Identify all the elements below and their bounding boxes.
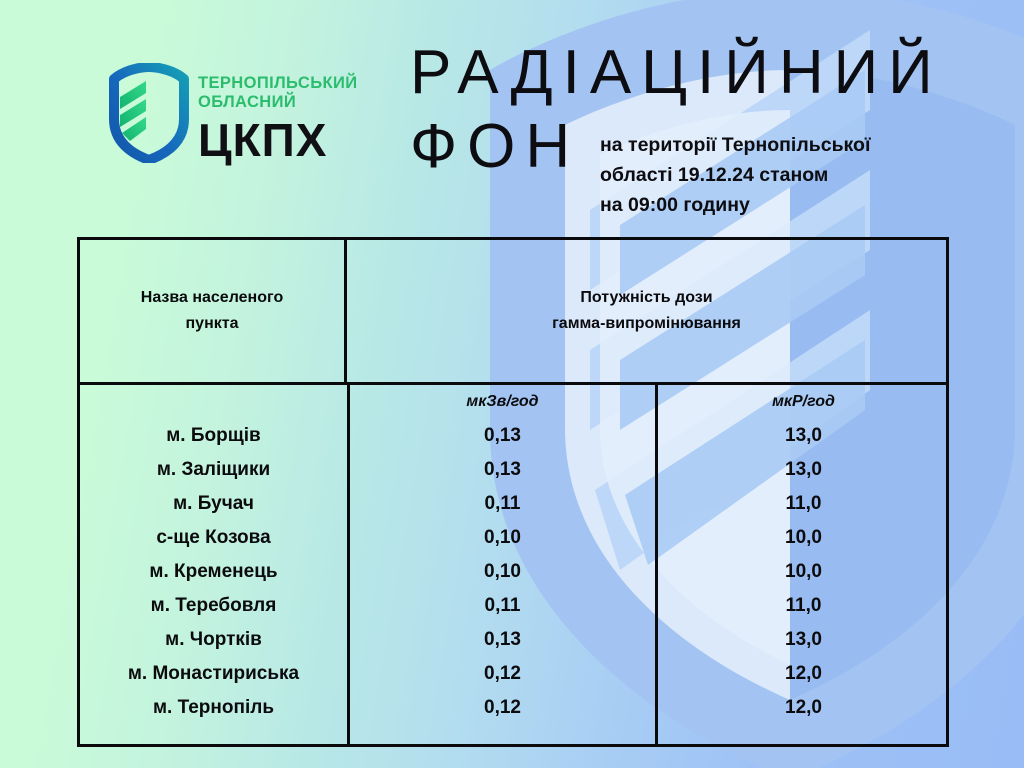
organization-logo: ТЕРНОПІЛЬСЬКИЙ ОБЛАСНИЙ ЦКПХ — [106, 58, 436, 173]
radiation-background-poster: ТЕРНОПІЛЬСЬКИЙ ОБЛАСНИЙ ЦКПХ РАДІАЦІЙНИЙ… — [0, 0, 1024, 768]
table-units-row: мкЗв/год мкР/год — [80, 385, 946, 423]
cell-dose-usv: 0,12 — [350, 663, 655, 685]
table-row: м. Борщів0,1313,0 — [80, 423, 946, 457]
column-header-dose-rate: Потужність дози гамма-випромінювання — [347, 240, 946, 382]
cell-settlement-name: м. Кременець — [80, 561, 347, 583]
page-subtitle: на території Тернопільської області 19.1… — [600, 130, 940, 220]
cell-dose-ur: 13,0 — [658, 629, 949, 651]
logo-line-2: ОБЛАСНИЙ — [198, 93, 438, 112]
cell-dose-ur: 11,0 — [658, 595, 949, 617]
table-row: м. Монастириська0,1212,0 — [80, 661, 946, 695]
cell-settlement-name: м. Тернопіль — [80, 697, 347, 719]
column-header-dose-line-2: гамма-випромінювання — [552, 311, 741, 337]
cell-dose-usv: 0,11 — [350, 493, 655, 515]
cell-settlement-name: м. Борщів — [80, 425, 347, 447]
cell-dose-ur: 11,0 — [658, 493, 949, 515]
subtitle-line-2: області 19.12.24 станом — [600, 160, 940, 190]
cell-dose-ur: 12,0 — [658, 697, 949, 719]
table-body: мкЗв/год мкР/год м. Борщів0,1313,0м. Зал… — [80, 385, 946, 744]
cell-settlement-name: м. Заліщики — [80, 459, 347, 481]
cell-settlement-name: с-ще Козова — [80, 527, 347, 549]
table-row: с-ще Козова0,1010,0 — [80, 525, 946, 559]
cell-dose-usv: 0,13 — [350, 629, 655, 651]
table-row: м. Теребовля0,1111,0 — [80, 593, 946, 627]
logo-line-1: ТЕРНОПІЛЬСЬКИЙ — [198, 74, 438, 93]
title-line-1: РАДІАЦІЙНИЙ — [410, 36, 1010, 110]
cell-settlement-name: м. Монастириська — [80, 663, 347, 685]
cell-dose-usv: 0,10 — [350, 561, 655, 583]
unit-microsievert-per-hour: мкЗв/год — [350, 393, 655, 411]
cell-dose-ur: 13,0 — [658, 425, 949, 447]
table-row: м. Чортків0,1313,0 — [80, 627, 946, 661]
cell-dose-ur: 10,0 — [658, 527, 949, 549]
radiation-table: Назва населеного пункта Потужність дози … — [77, 237, 949, 747]
cell-settlement-name: м. Чортків — [80, 629, 347, 651]
table-row: м. Заліщики0,1313,0 — [80, 457, 946, 491]
table-row: м. Бучач0,1111,0 — [80, 491, 946, 525]
column-header-settlement-line-2: пункта — [141, 311, 283, 337]
subtitle-line-1: на території Тернопільської — [600, 130, 940, 160]
column-header-settlement-line-1: Назва населеного — [141, 285, 283, 311]
cell-dose-ur: 10,0 — [658, 561, 949, 583]
cell-settlement-name: м. Теребовля — [80, 595, 347, 617]
table-header-row: Назва населеного пункта Потужність дози … — [80, 240, 946, 385]
cell-settlement-name: м. Бучач — [80, 493, 347, 515]
table-row: м. Тернопіль0,1212,0 — [80, 695, 946, 729]
cell-dose-usv: 0,10 — [350, 527, 655, 549]
cell-dose-usv: 0,12 — [350, 697, 655, 719]
cell-dose-ur: 13,0 — [658, 459, 949, 481]
column-header-settlement: Назва населеного пункта — [80, 240, 347, 382]
subtitle-line-3: на 09:00 годину — [600, 190, 940, 220]
cell-dose-usv: 0,13 — [350, 425, 655, 447]
logo-abbreviation: ЦКПХ — [198, 115, 438, 165]
unit-microroentgen-per-hour: мкР/год — [658, 393, 949, 411]
cell-dose-ur: 12,0 — [658, 663, 949, 685]
cell-dose-usv: 0,11 — [350, 595, 655, 617]
table-row: м. Кременець0,1010,0 — [80, 559, 946, 593]
column-header-dose-line-1: Потужність дози — [552, 285, 741, 311]
cell-dose-usv: 0,13 — [350, 459, 655, 481]
shield-logo-icon — [106, 63, 192, 163]
